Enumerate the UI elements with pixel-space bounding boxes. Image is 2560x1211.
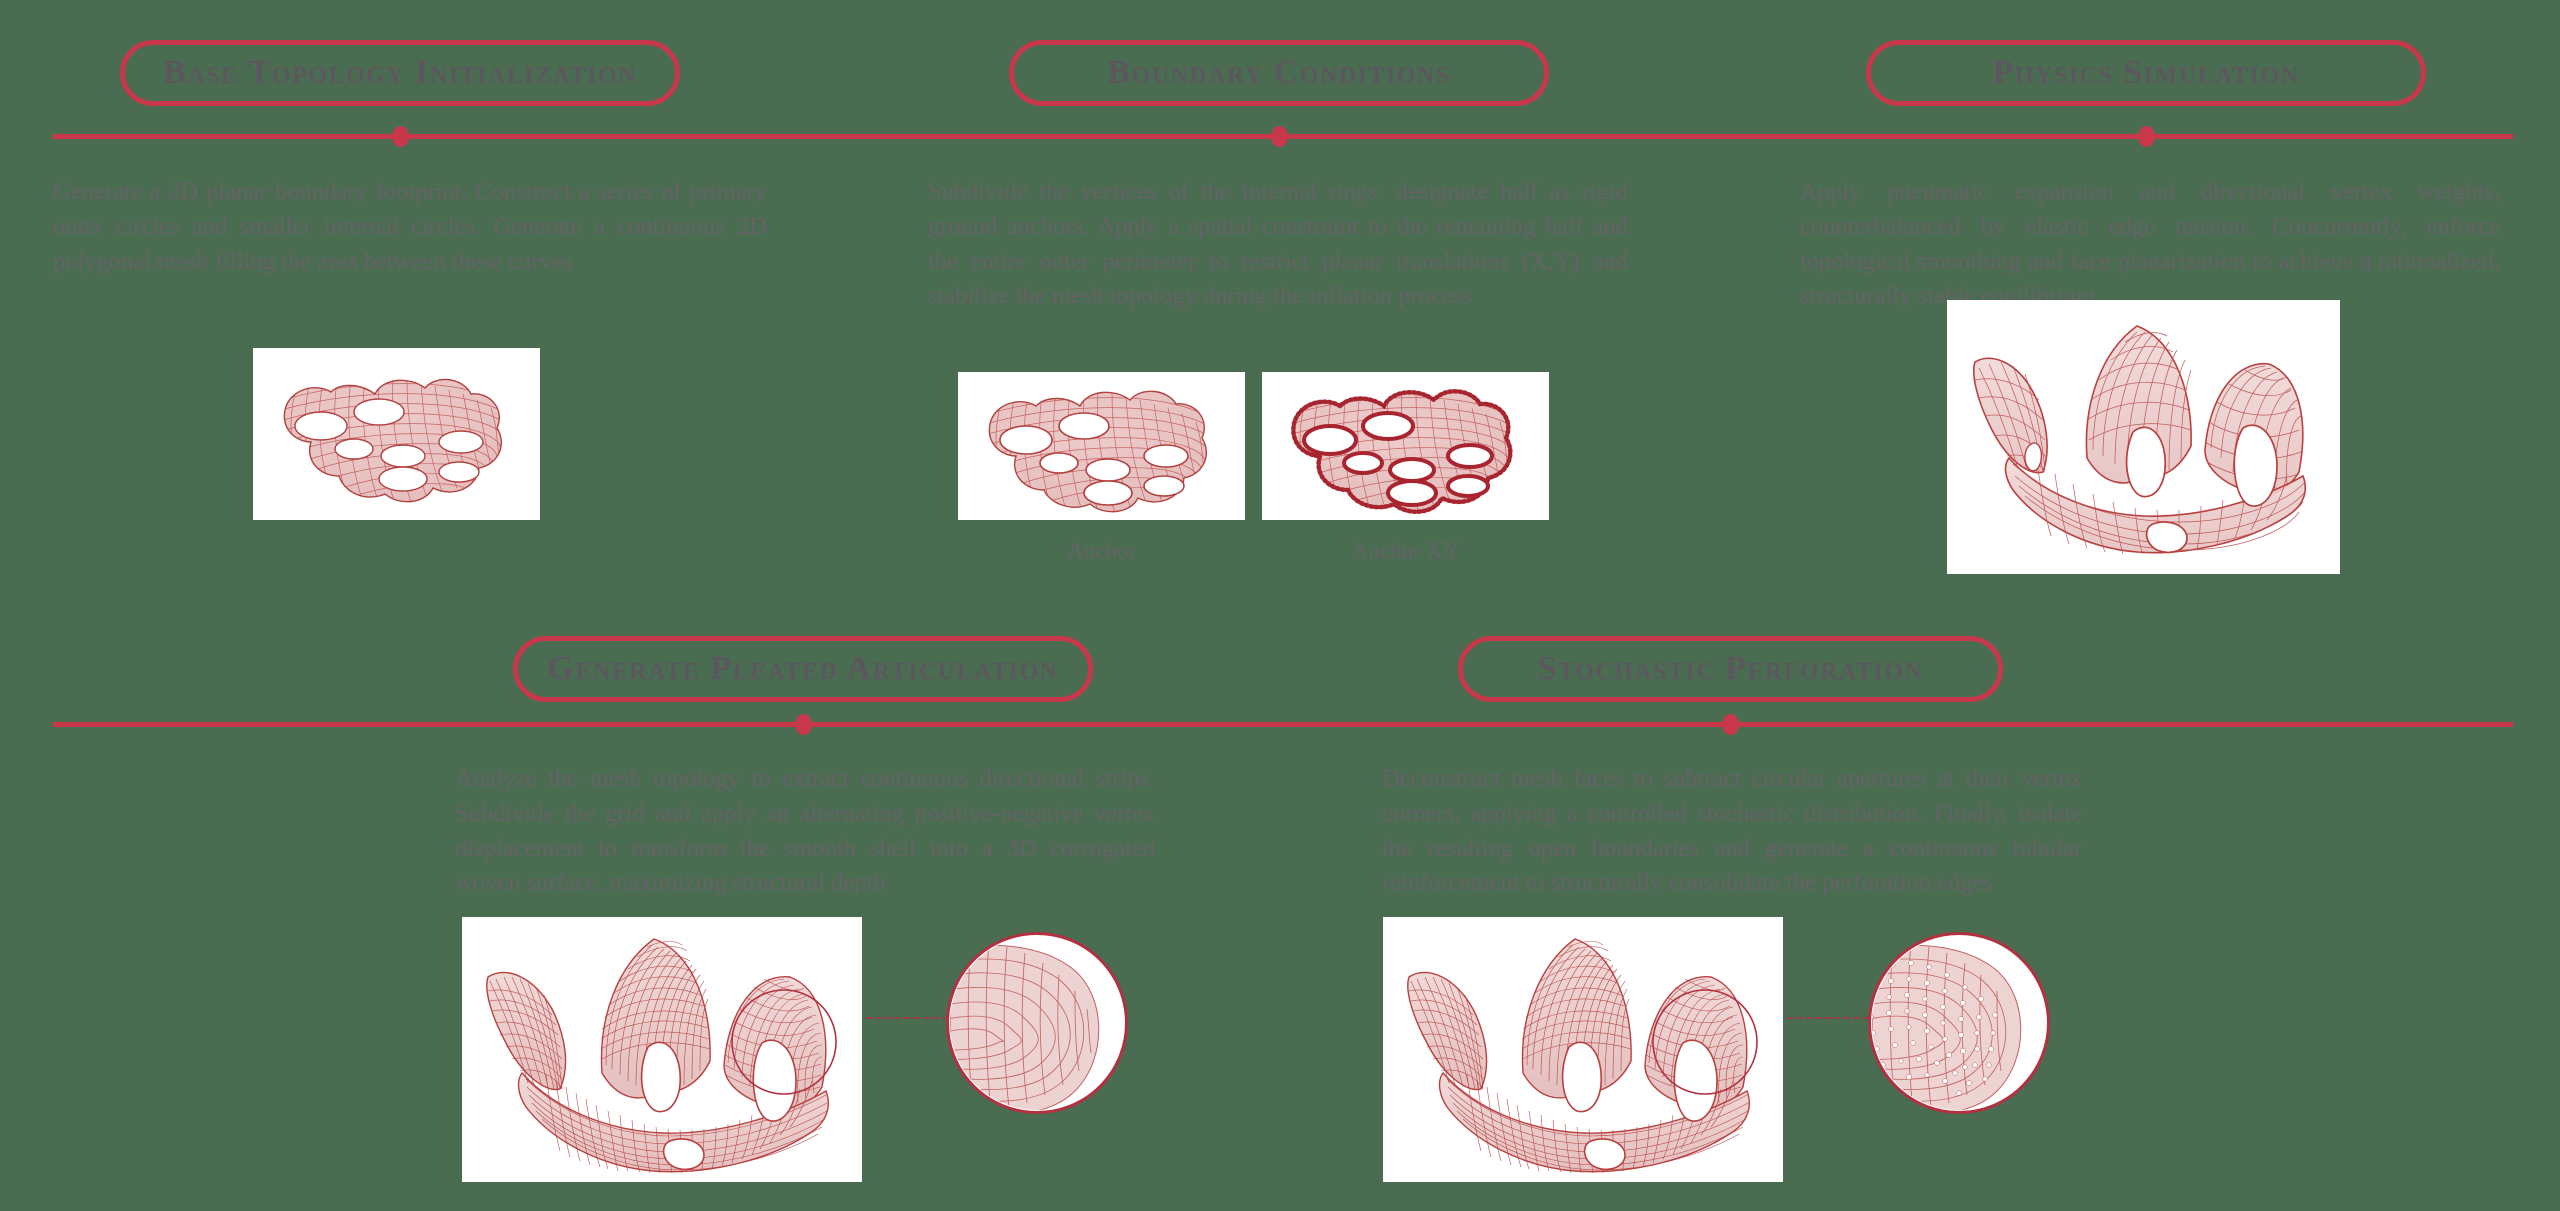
timeline-node <box>1271 126 1288 147</box>
detail-circle-perforated <box>1868 932 2050 1114</box>
leader-line-perforated <box>1787 1017 1869 1019</box>
figure-anchor-xy-mesh <box>1262 372 1549 520</box>
flat-mesh-svg <box>253 348 540 520</box>
step-header-boundary-conditions: Boundary Conditions <box>1009 40 1549 106</box>
step-header-base-topology-initialization: Base Topology Initialization <box>120 40 680 106</box>
step-body-base-topology-initialization: Generate a 2D planar boundary footprint.… <box>53 175 767 279</box>
timeline-node <box>795 714 812 735</box>
perforated-detail-svg <box>1871 935 2047 1111</box>
detail-circle-pleated <box>946 932 1128 1114</box>
step-header-stochastic-perforation: Stochastic Perforation <box>1458 636 2003 702</box>
figure-caption-anchor: Anchor <box>958 538 1245 564</box>
diagram-canvas: Base Topology Initialization Boundary Co… <box>0 0 2560 1211</box>
figure-anchor-mesh <box>958 372 1245 520</box>
timeline-node <box>2138 126 2155 147</box>
step-title: Physics Simulation <box>1993 56 2300 90</box>
timeline-rule-bottom <box>53 722 2513 727</box>
figure-inflated-shell <box>1947 300 2340 574</box>
pleated-detail-svg <box>949 935 1125 1111</box>
step-title: Generate Pleated Articulation <box>548 652 1059 686</box>
anchor-mesh-svg <box>958 372 1245 520</box>
step-title: Stochastic Perforation <box>1538 652 1924 686</box>
timeline-node <box>1722 714 1739 735</box>
step-title: Base Topology Initialization <box>163 56 637 90</box>
leader-line-pleated <box>866 1017 948 1019</box>
anchor-xy-mesh-svg <box>1262 372 1549 520</box>
inflated-shell-svg <box>1947 300 2340 574</box>
step-header-physics-simulation: Physics Simulation <box>1866 40 2426 106</box>
timeline-node <box>392 126 409 147</box>
figure-caption-anchor-xy: Anchor XY <box>1262 538 1549 564</box>
step-body-physics-simulation: Apply pneumatic expansion and directiona… <box>1800 175 2500 314</box>
figure-flat-mesh <box>253 348 540 520</box>
step-body-generate-pleated-articulation: Analyze the mesh topology to extract con… <box>455 762 1155 901</box>
figure-perforated-shell <box>1383 917 1783 1182</box>
step-header-generate-pleated-articulation: Generate Pleated Articulation <box>513 636 1093 702</box>
step-body-boundary-conditions: Subdivide the vertices of the internal r… <box>928 175 1628 314</box>
perforated-shell-svg <box>1383 917 1783 1182</box>
figure-pleated-shell <box>462 917 862 1182</box>
pleated-shell-svg <box>462 917 862 1182</box>
step-body-stochastic-perforation: Deconstruct mesh faces to subtract circu… <box>1382 762 2082 901</box>
step-title: Boundary Conditions <box>1107 56 1450 90</box>
